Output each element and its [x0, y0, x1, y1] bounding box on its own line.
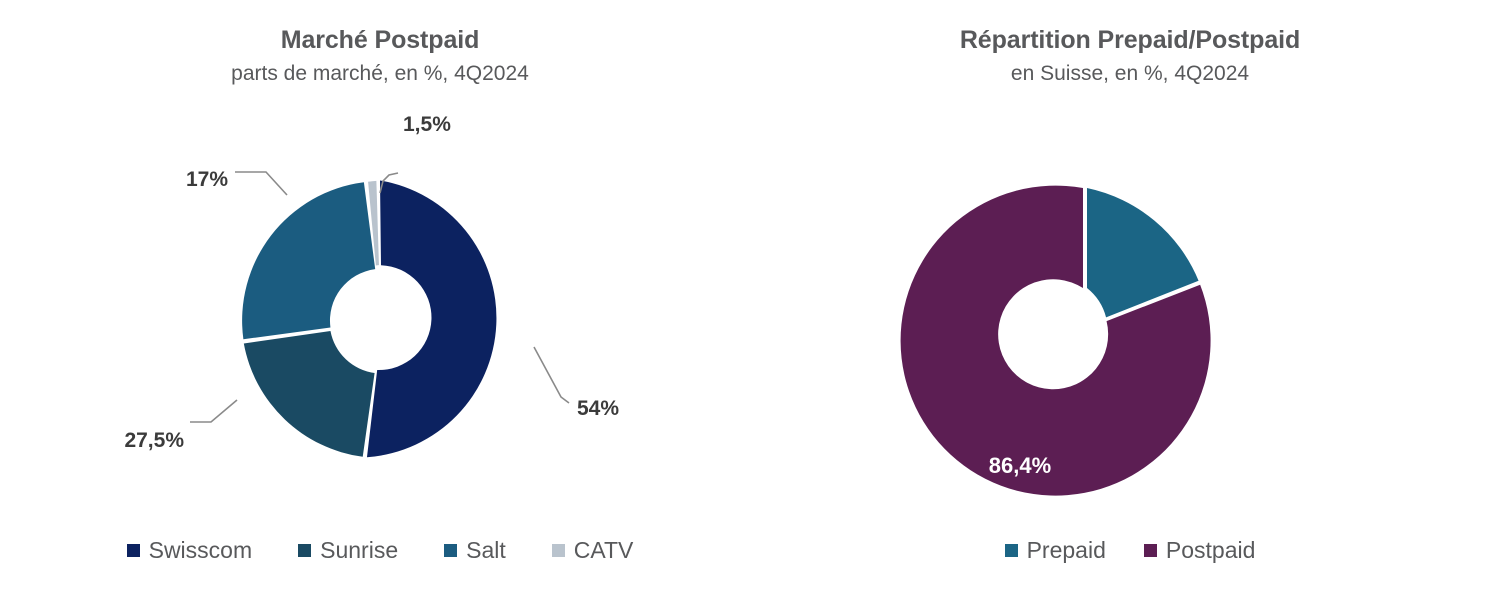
donut-slice-salt[interactable]: [242, 182, 375, 339]
donut-svg-left: 1,5% 17% 27,5% 54%: [0, 0, 760, 595]
legend-label-postpaid: Postpaid: [1166, 539, 1256, 562]
legend-label-catv: CATV: [574, 539, 634, 562]
donut-svg-right: 13,6% 86,4%: [760, 0, 1500, 595]
legend-swatch-swisscom: [127, 544, 140, 557]
legend-swatch-postpaid: [1144, 544, 1157, 557]
donut-chart-postpaid-market: 1,5% 17% 27,5% 54%: [0, 0, 760, 595]
leader-line-54: [534, 347, 569, 403]
legend-swatch-prepaid: [1005, 544, 1018, 557]
legend-label-swisscom: Swisscom: [149, 539, 253, 562]
slice-value-sunrise: 27,5%: [124, 429, 184, 452]
chart-panel-postpaid-market: Marché Postpaid parts de marché, en %, 4…: [0, 0, 760, 595]
leader-line-salt: [235, 172, 287, 195]
legend-prepaid-postpaid: Prepaid Postpaid: [760, 539, 1500, 562]
legend-swatch-catv: [552, 544, 565, 557]
slice-value-prepaid: 13,6%: [1121, 157, 1183, 182]
legend-postpaid-market: Swisscom Sunrise Salt CATV: [0, 539, 760, 562]
legend-label-sunrise: Sunrise: [320, 539, 398, 562]
slice-value-catv: 1,5%: [403, 113, 451, 136]
slice-value-salt: 17%: [186, 168, 228, 191]
donut-slice-sunrise[interactable]: [244, 331, 375, 457]
legend-item-prepaid[interactable]: Prepaid: [1005, 539, 1106, 562]
slice-value-swisscom: 54%: [577, 397, 619, 420]
legend-item-sunrise[interactable]: Sunrise: [298, 539, 398, 562]
legend-item-postpaid[interactable]: Postpaid: [1144, 539, 1256, 562]
legend-label-salt: Salt: [466, 539, 506, 562]
legend-item-salt[interactable]: Salt: [444, 539, 506, 562]
legend-swatch-salt: [444, 544, 457, 557]
chart-panel-prepaid-postpaid: Répartition Prepaid/Postpaid en Suisse, …: [760, 0, 1500, 595]
legend-label-prepaid: Prepaid: [1027, 539, 1106, 562]
legend-swatch-sunrise: [298, 544, 311, 557]
donut-chart-prepaid-postpaid: 13,6% 86,4%: [760, 0, 1500, 595]
slice-value-postpaid: 86,4%: [989, 453, 1051, 478]
leader-line-sunrise: [190, 400, 237, 422]
legend-item-swisscom[interactable]: Swisscom: [127, 539, 253, 562]
donut-slice-swisscom[interactable]: [367, 181, 496, 458]
legend-item-catv[interactable]: CATV: [552, 539, 634, 562]
